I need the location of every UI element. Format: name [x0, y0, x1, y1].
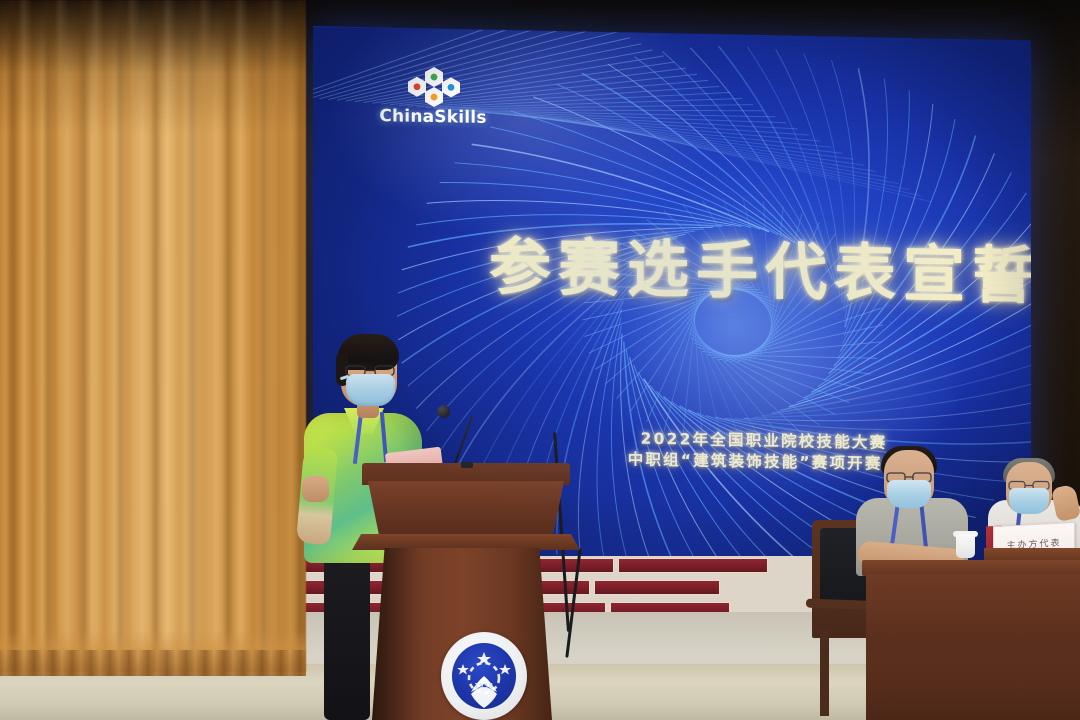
- table-front-panel: [866, 574, 1080, 720]
- curtain-hem-wave: [0, 650, 306, 676]
- podium-face: [368, 481, 564, 539]
- emblem-year: 1958: [441, 682, 527, 690]
- podium-ledge: [352, 534, 580, 550]
- chair-leg: [820, 630, 829, 716]
- stage-curtain: [0, 0, 306, 672]
- stage-photo-scene: ChinaSkills 参赛选手代表宣誓 2022年全国职业院校技能大赛 中职组…: [0, 0, 1080, 720]
- curtain-folds: [0, 0, 306, 672]
- paper-cup: [956, 534, 975, 558]
- microphone-base: [461, 462, 473, 468]
- seated-right-face-mask: [1009, 488, 1049, 514]
- speaker-hand: [302, 476, 329, 502]
- speaker-face-mask: [346, 374, 395, 406]
- school-emblem: 1958: [441, 632, 527, 720]
- seated-left-face-mask: [887, 480, 931, 508]
- emblem-graphic: [441, 632, 527, 720]
- microphone-head-icon: [437, 405, 450, 418]
- speaker-legs: [324, 545, 370, 720]
